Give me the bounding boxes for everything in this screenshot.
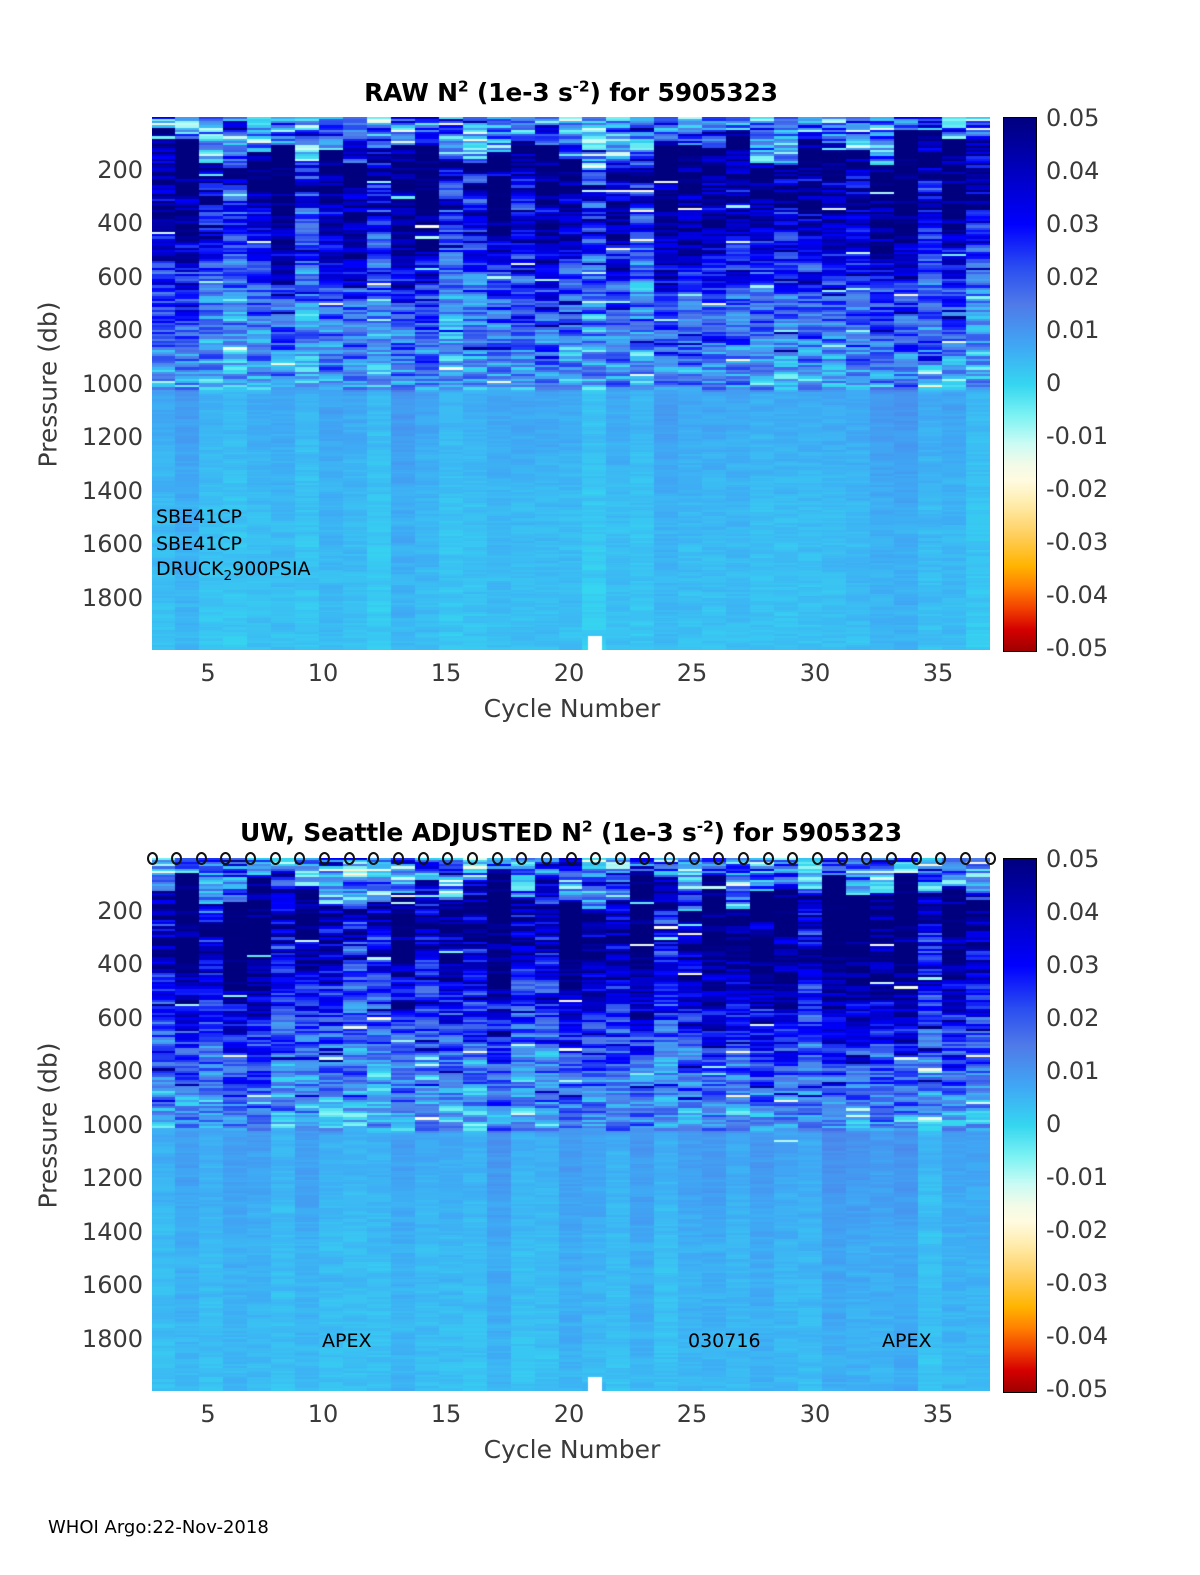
title2-text-suffix: ) for 5905323 (714, 818, 902, 847)
cycle-marker (713, 852, 724, 865)
cycle-marker (615, 852, 626, 865)
xtick-raw-5: 5 (168, 659, 248, 687)
cycle-marker (368, 852, 379, 865)
cycle-marker (270, 852, 281, 865)
cycle-marker (147, 852, 158, 865)
cbtick-raw-5: 0 (1046, 369, 1061, 397)
cycle-marker (467, 852, 478, 865)
annot-raw-pressure-sensor: DRUCK2900PSIA (156, 558, 311, 580)
cbtick-raw-6: -0.01 (1046, 422, 1108, 450)
title-superscript: 2 (458, 78, 469, 96)
panel-adjusted-xlabel: Cycle Number (352, 1435, 792, 1464)
cycle-marker (664, 852, 675, 865)
cbtick-raw-1: 0.04 (1046, 157, 1099, 185)
panel-raw-title: RAW N2 (1e-3 s-2) for 5905323 (152, 78, 990, 107)
cycle-marker (763, 852, 774, 865)
cycle-marker (985, 852, 996, 865)
ytick-raw-1600: 1600 (38, 530, 143, 558)
cycle-marker (787, 852, 798, 865)
xtick-raw-30: 30 (775, 659, 855, 687)
ytick-adj-1800: 1800 (38, 1325, 143, 1353)
cycle-marker-row (152, 852, 990, 868)
ytick-raw-200: 200 (38, 156, 143, 184)
cycle-marker (319, 852, 330, 865)
argo-n2-figure: RAW N2 (1e-3 s-2) for 5905323 Pressure (… (0, 0, 1200, 1575)
xtick-raw-25: 25 (652, 659, 732, 687)
cbtick-adj-5: 0 (1046, 1110, 1061, 1138)
title2-text-prefix: UW, Seattle ADJUSTED N (240, 818, 582, 847)
ytick-adj-600: 600 (38, 1004, 143, 1032)
colorbar-adjusted (1003, 858, 1037, 1393)
ytick-adj-1200: 1200 (38, 1164, 143, 1192)
ytick-raw-800: 800 (38, 316, 143, 344)
ytick-adj-1000: 1000 (38, 1111, 143, 1139)
ytick-raw-1800: 1800 (38, 584, 143, 612)
ytick-adj-800: 800 (38, 1057, 143, 1085)
cycle-marker (689, 852, 700, 865)
ytick-raw-400: 400 (38, 209, 143, 237)
cycle-marker (935, 852, 946, 865)
cycle-marker (344, 852, 355, 865)
heatmap-adjusted-canvas (152, 858, 990, 1391)
cycle-marker (639, 852, 650, 865)
annot-adj-float-type-right: APEX (882, 1330, 931, 1352)
cbtick-adj-9: -0.04 (1046, 1322, 1108, 1350)
annot-raw-sensor-2: SBE41CP (156, 533, 242, 555)
cycle-marker (294, 852, 305, 865)
colorbar-raw (1003, 117, 1037, 652)
cycle-marker (590, 852, 601, 865)
cycle-marker (418, 852, 429, 865)
ytick-raw-600: 600 (38, 263, 143, 291)
ytick-raw-1000: 1000 (38, 370, 143, 398)
xtick-adj-10: 10 (283, 1400, 363, 1428)
cycle-marker (812, 852, 823, 865)
cycle-marker (960, 852, 971, 865)
cbtick-adj-8: -0.03 (1046, 1269, 1108, 1297)
cycle-marker (196, 852, 207, 865)
cycle-marker (566, 852, 577, 865)
cycle-marker (393, 852, 404, 865)
cbtick-raw-9: -0.04 (1046, 581, 1108, 609)
xtick-adj-5: 5 (168, 1400, 248, 1428)
ytick-raw-1400: 1400 (38, 477, 143, 505)
cbtick-raw-10: -0.05 (1046, 634, 1108, 662)
panel-raw-xlabel: Cycle Number (352, 694, 792, 723)
title-text-mid: (1e-3 s (468, 78, 572, 107)
heatmap-adjusted[interactable] (152, 858, 990, 1391)
cbtick-adj-1: 0.04 (1046, 898, 1099, 926)
ytick-adj-400: 400 (38, 950, 143, 978)
xtick-raw-35: 35 (898, 659, 978, 687)
annot-adj-serial: 030716 (688, 1330, 761, 1352)
cbtick-raw-0: 0.05 (1046, 104, 1099, 132)
panel-adjusted-title: UW, Seattle ADJUSTED N2 (1e-3 s-2) for 5… (152, 818, 990, 847)
cycle-marker (220, 852, 231, 865)
ytick-adj-1600: 1600 (38, 1271, 143, 1299)
ytick-adj-200: 200 (38, 897, 143, 925)
cbtick-adj-10: -0.05 (1046, 1375, 1108, 1403)
title2-text-mid: (1e-3 s (592, 818, 696, 847)
cbtick-adj-4: 0.01 (1046, 1057, 1099, 1085)
title2-superscript-2: -2 (697, 818, 714, 836)
xtick-adj-25: 25 (652, 1400, 732, 1428)
cbtick-adj-3: 0.02 (1046, 1004, 1099, 1032)
cbtick-adj-7: -0.02 (1046, 1216, 1108, 1244)
annot-druck-text: DRUCK (156, 558, 223, 580)
title-superscript-2: -2 (573, 78, 590, 96)
cycle-marker (442, 852, 453, 865)
annot-druck-subscript: 2 (223, 568, 232, 584)
cbtick-adj-6: -0.01 (1046, 1163, 1108, 1191)
cycle-marker (492, 852, 503, 865)
cbtick-raw-8: -0.03 (1046, 528, 1108, 556)
xtick-raw-10: 10 (283, 659, 363, 687)
xtick-adj-20: 20 (529, 1400, 609, 1428)
footer-credit: WHOI Argo:22-Nov-2018 (48, 1517, 269, 1538)
cbtick-raw-7: -0.02 (1046, 475, 1108, 503)
cycle-marker (245, 852, 256, 865)
ytick-adj-1400: 1400 (38, 1218, 143, 1246)
annot-raw-sensor-1: SBE41CP (156, 506, 242, 528)
cycle-marker (738, 852, 749, 865)
cbtick-adj-0: 0.05 (1046, 845, 1099, 873)
cycle-marker (861, 852, 872, 865)
ytick-raw-1200: 1200 (38, 423, 143, 451)
cbtick-raw-2: 0.03 (1046, 210, 1099, 238)
xtick-raw-15: 15 (406, 659, 486, 687)
cycle-marker (837, 852, 848, 865)
cycle-marker (171, 852, 182, 865)
title-text-prefix: RAW N (364, 78, 458, 107)
cycle-marker (516, 852, 527, 865)
annot-druck-psia: 900PSIA (232, 558, 310, 580)
cycle-marker (541, 852, 552, 865)
xtick-adj-15: 15 (406, 1400, 486, 1428)
title2-superscript: 2 (582, 818, 593, 836)
cbtick-raw-3: 0.02 (1046, 263, 1099, 291)
cycle-marker (886, 852, 897, 865)
xtick-adj-35: 35 (898, 1400, 978, 1428)
cycle-marker (911, 852, 922, 865)
cbtick-adj-2: 0.03 (1046, 951, 1099, 979)
annot-adj-float-type-left: APEX (322, 1330, 371, 1352)
xtick-adj-30: 30 (775, 1400, 855, 1428)
title-text-suffix: ) for 5905323 (589, 78, 777, 107)
xtick-raw-20: 20 (529, 659, 609, 687)
cbtick-raw-4: 0.01 (1046, 316, 1099, 344)
